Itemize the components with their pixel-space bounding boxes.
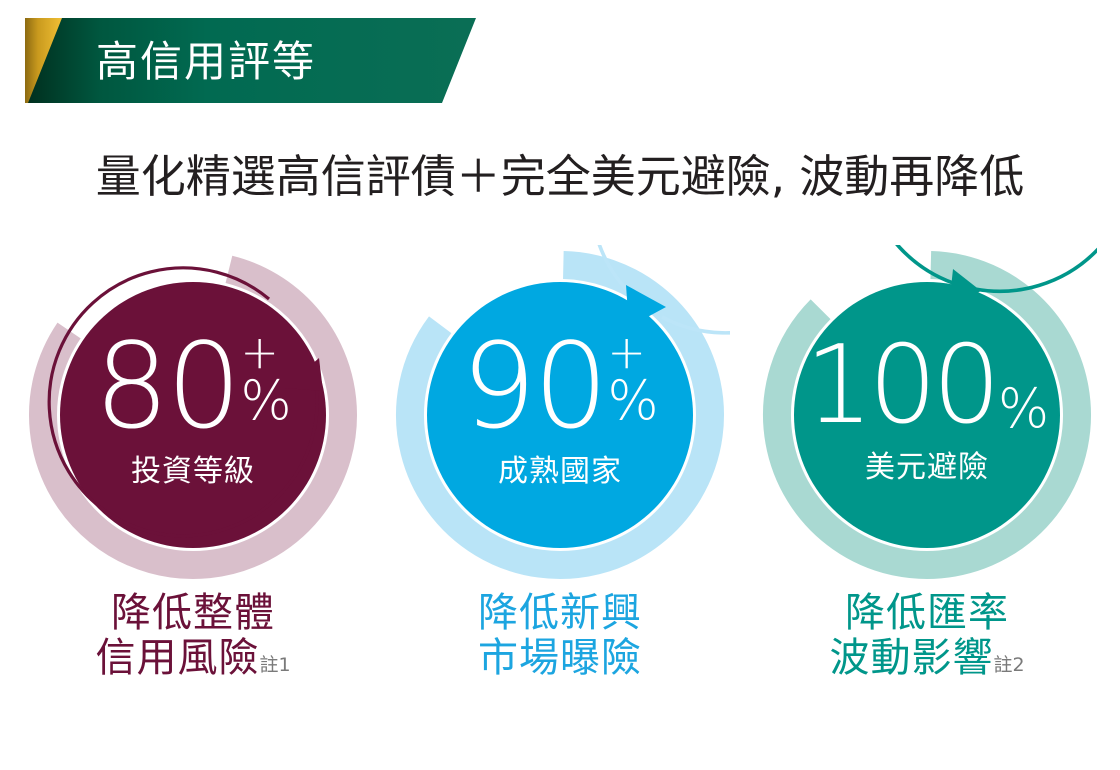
subtitle: 量化精選高信評債＋完全美元避險, 波動再降低 <box>0 140 1120 205</box>
dial-disc <box>794 282 1060 548</box>
footnote-marker: 註1 <box>259 654 290 676</box>
card-caption: 降低整體 信用風險註1 <box>95 591 290 681</box>
page-title: 高信用評等 <box>96 24 316 92</box>
stat-card-investment-grade: 80 + % 投資等級 降低整體 信用風險註1 <box>18 245 368 745</box>
card-caption: 降低新興 市場曝險 <box>478 591 642 681</box>
caption-line-2: 信用風險 <box>95 636 259 681</box>
caption-line-1: 降低新興 <box>478 591 642 636</box>
stat-card-usd-hedged: 100 % 美元避險 降低匯率 波動影響註2 <box>752 245 1102 745</box>
dial-disc <box>427 282 693 548</box>
header-banner: 高信用評等 <box>0 0 1120 120</box>
stats-row: 80 + % 投資等級 降低整體 信用風險註1 <box>0 245 1120 745</box>
footnote-marker: 註2 <box>993 654 1024 676</box>
dial-graphic <box>757 245 1097 585</box>
caption-line-2: 市場曝險 <box>478 636 642 681</box>
dial-graphic <box>23 245 363 585</box>
caption-line-1: 降低整體 <box>95 591 290 636</box>
dial-investment-grade: 80 + % 投資等級 <box>23 245 363 585</box>
dial-graphic <box>390 245 730 585</box>
caption-line-2: 波動影響 <box>829 636 993 681</box>
dial-usd-hedged: 100 % 美元避險 <box>757 245 1097 585</box>
dial-developed-markets: 90 + % 成熟國家 <box>390 245 730 585</box>
card-caption: 降低匯率 波動影響註2 <box>829 591 1024 681</box>
stat-card-developed-markets: 90 + % 成熟國家 降低新興 市場曝險 <box>385 245 735 745</box>
caption-line-1: 降低匯率 <box>829 591 1024 636</box>
